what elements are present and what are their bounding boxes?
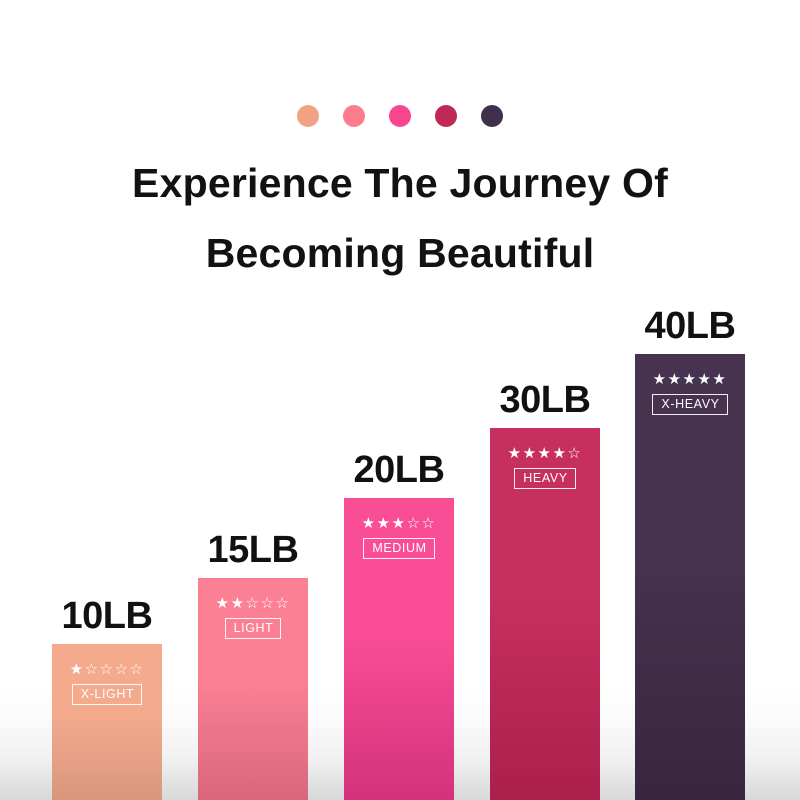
bar-group-10lb[interactable]: 10LB★☆☆☆☆X-LIGHT bbox=[52, 644, 162, 800]
bar-group-40lb[interactable]: 40LB★★★★★X-HEAVY bbox=[635, 354, 745, 800]
bar: ★★★★☆HEAVY bbox=[490, 428, 600, 800]
bar-badge: ★★★★☆HEAVY bbox=[490, 446, 600, 489]
tier-label: LIGHT bbox=[225, 618, 282, 639]
bar-group-30lb[interactable]: 30LB★★★★☆HEAVY bbox=[490, 428, 600, 800]
star-rating-icon: ★★★★☆ bbox=[508, 446, 583, 461]
bar: ★☆☆☆☆X-LIGHT bbox=[52, 644, 162, 800]
star-rating-icon: ★☆☆☆☆ bbox=[70, 662, 145, 677]
bar: ★★★☆☆MEDIUM bbox=[344, 498, 454, 800]
bar-value-label: 30LB bbox=[500, 379, 591, 422]
bar-fill bbox=[635, 354, 745, 800]
promo-banner: Experience The Journey Of Becoming Beaut… bbox=[0, 0, 800, 800]
bar-badge: ★★★★★X-HEAVY bbox=[635, 372, 745, 415]
tier-label: HEAVY bbox=[514, 468, 575, 489]
bar-value-label: 10LB bbox=[62, 595, 153, 638]
bar-value-label: 20LB bbox=[354, 449, 445, 492]
star-rating-icon: ★★★★★ bbox=[653, 372, 728, 387]
tier-label: MEDIUM bbox=[363, 538, 434, 559]
bar-badge: ★★☆☆☆LIGHT bbox=[198, 596, 308, 639]
tier-label: X-HEAVY bbox=[652, 394, 727, 415]
star-rating-icon: ★★★☆☆ bbox=[362, 516, 437, 531]
tier-label: X-LIGHT bbox=[72, 684, 143, 705]
bar-group-15lb[interactable]: 15LB★★☆☆☆LIGHT bbox=[198, 578, 308, 800]
bar-value-label: 15LB bbox=[208, 529, 299, 572]
resistance-band-bar-chart: 10LB★☆☆☆☆X-LIGHT15LB★★☆☆☆LIGHT20LB★★★☆☆M… bbox=[0, 0, 800, 800]
bar: ★★☆☆☆LIGHT bbox=[198, 578, 308, 800]
bar-badge: ★☆☆☆☆X-LIGHT bbox=[52, 662, 162, 705]
bar-value-label: 40LB bbox=[645, 305, 736, 348]
bar-group-20lb[interactable]: 20LB★★★☆☆MEDIUM bbox=[344, 498, 454, 800]
star-rating-icon: ★★☆☆☆ bbox=[216, 596, 291, 611]
bar-badge: ★★★☆☆MEDIUM bbox=[344, 516, 454, 559]
bar: ★★★★★X-HEAVY bbox=[635, 354, 745, 800]
